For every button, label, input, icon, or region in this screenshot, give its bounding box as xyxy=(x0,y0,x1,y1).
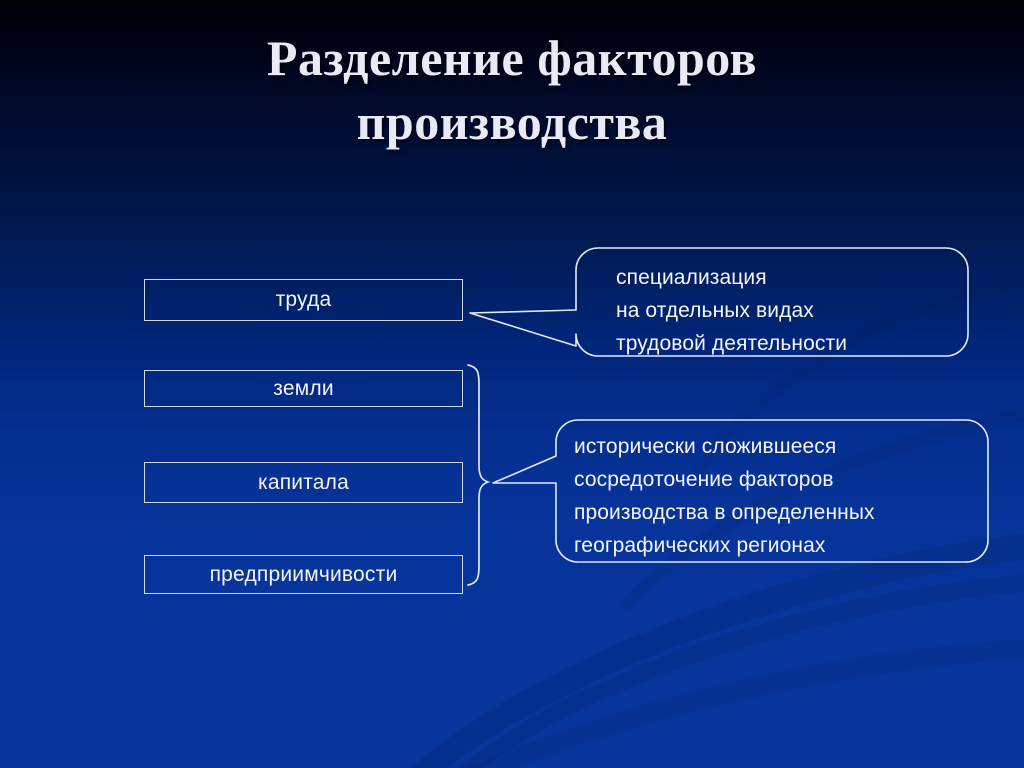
callout-concentration[interactable]: исторически сложившееся сосредоточение ф… xyxy=(488,412,1008,577)
factor-box-entrepreneurship-label: предприимчивости xyxy=(210,563,398,587)
slide-title-line-1: Разделение факторов xyxy=(0,26,1024,90)
factor-box-labor-label: труда xyxy=(276,288,332,312)
callout-specialization-text: специализация на отдельных видах трудово… xyxy=(616,261,847,360)
factor-box-entrepreneurship[interactable]: предприимчивости xyxy=(144,555,463,594)
slide-canvas: Разделение факторов производства труда з… xyxy=(0,0,1024,768)
slide-title: Разделение факторов производства xyxy=(0,26,1024,154)
factor-box-capital-label: капитала xyxy=(258,471,349,495)
factor-box-labor[interactable]: труда xyxy=(144,279,463,321)
callout-concentration-text: исторически сложившееся сосредоточение ф… xyxy=(574,430,875,562)
callout-specialization[interactable]: специализация на отдельных видах трудово… xyxy=(468,240,968,370)
factor-box-land[interactable]: земли xyxy=(144,370,463,407)
factor-box-capital[interactable]: капитала xyxy=(144,462,463,503)
slide-title-line-2: производства xyxy=(0,90,1024,154)
factor-box-land-label: земли xyxy=(273,377,334,401)
